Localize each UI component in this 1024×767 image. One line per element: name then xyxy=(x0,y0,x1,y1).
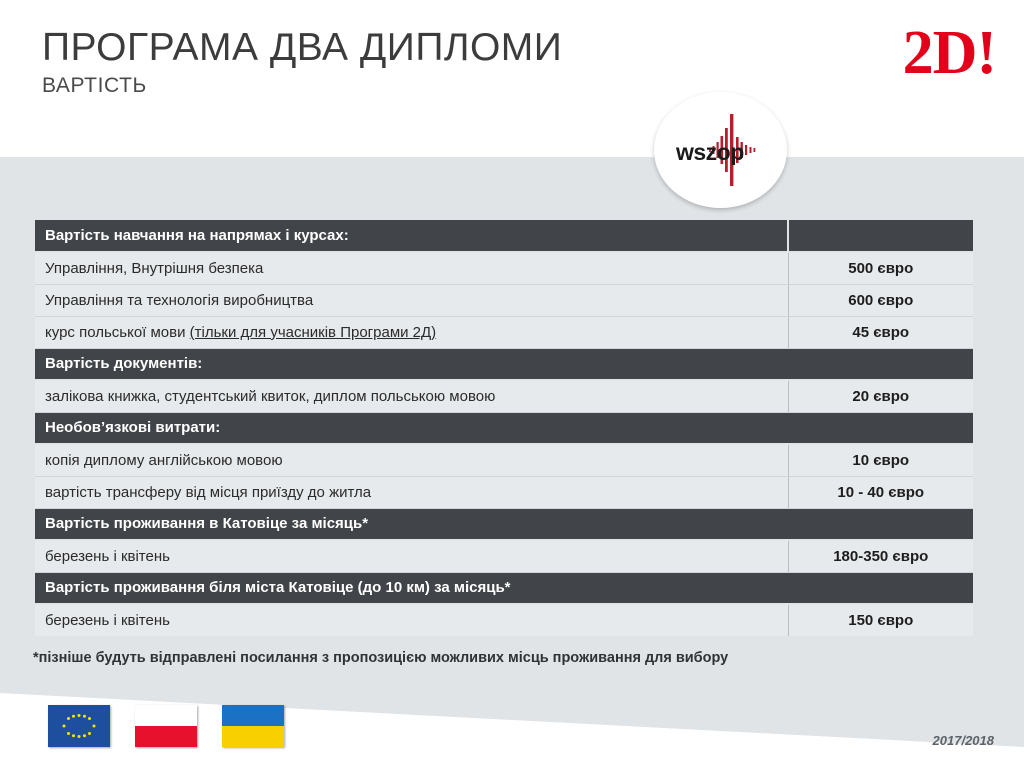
table-section-header-row: Вартість документів: xyxy=(35,348,973,380)
slide-root: ПРОГРАМА ДВА ДИПЛОМИ ВАРТІСТЬ 2D! xyxy=(0,0,1024,767)
table-row-label: Управління, Внутрішня безпека xyxy=(35,252,788,284)
table-row-label: березень і квітень xyxy=(35,604,788,636)
title-block: ПРОГРАМА ДВА ДИПЛОМИ ВАРТІСТЬ xyxy=(42,26,562,98)
cost-table-body: Вартість навчання на напрямах і курсах:У… xyxy=(35,220,973,636)
table-row: вартість трансферу від місця приїзду до … xyxy=(35,476,973,508)
table-row-value: 10 євро xyxy=(788,444,973,476)
header-band: ПРОГРАМА ДВА ДИПЛОМИ ВАРТІСТЬ 2D! xyxy=(0,0,1024,157)
table-row-value: 600 євро xyxy=(788,284,973,316)
table-section-header-row: Вартість проживання біля міста Катовіце … xyxy=(35,572,973,604)
table-row-label: залікова книжка, студентський квиток, ди… xyxy=(35,380,788,412)
section-header-label: Необов’язкові витрати: xyxy=(35,412,973,444)
section-header-value-cell xyxy=(788,220,973,252)
section-header-label: Вартість навчання на напрямах і курсах: xyxy=(35,220,788,252)
cost-table: Вартість навчання на напрямах і курсах:У… xyxy=(35,220,973,636)
table-row-label: курс польської мови (тільки для учасникі… xyxy=(35,316,788,348)
table-row-value: 10 - 40 євро xyxy=(788,476,973,508)
svg-text:wszop: wszop xyxy=(675,139,744,165)
flag-row xyxy=(48,705,284,747)
table-row-value: 45 євро xyxy=(788,316,973,348)
table-row: залікова книжка, студентський квиток, ди… xyxy=(35,380,973,412)
table-row-value: 180-350 євро xyxy=(788,540,973,572)
table-row-label: копія диплому англійською мовою xyxy=(35,444,788,476)
table-row-label: Управління та технологія виробництва xyxy=(35,284,788,316)
table-row-value: 500 євро xyxy=(788,252,973,284)
table-section-header-row: Вартість проживання в Катовіце за місяць… xyxy=(35,508,973,540)
underlined-note: (тільки для учасників Програми 2Д) xyxy=(190,324,437,341)
table-row-value: 150 євро xyxy=(788,604,973,636)
table-row: березень і квітень180-350 євро xyxy=(35,540,973,572)
page-title: ПРОГРАМА ДВА ДИПЛОМИ xyxy=(42,26,562,70)
poland-flag-icon xyxy=(135,705,197,747)
table-row: курс польської мови (тільки для учасникі… xyxy=(35,316,973,348)
section-header-label: Вартість документів: xyxy=(35,348,973,380)
table-row-label: березень і квітень xyxy=(35,540,788,572)
table-section-header-row: Необов’язкові витрати: xyxy=(35,412,973,444)
european-union-flag-icon xyxy=(48,705,110,747)
section-header-label: Вартість проживання в Катовіце за місяць… xyxy=(35,508,973,540)
wszop-logo-badge: wszop xyxy=(654,92,787,208)
ukraine-flag-icon xyxy=(222,705,284,747)
wszop-logo-icon: wszop xyxy=(654,92,787,208)
table-section-header-row: Вартість навчання на напрямах і курсах: xyxy=(35,220,973,252)
table-row-label: вартість трансферу від місця приїзду до … xyxy=(35,476,788,508)
table-row-value: 20 євро xyxy=(788,380,973,412)
table-row: Управління, Внутрішня безпека500 євро xyxy=(35,252,973,284)
section-header-label: Вартість проживання біля міста Катовіце … xyxy=(35,572,973,604)
academic-year-label: 2017/2018 xyxy=(933,733,994,748)
footnote-text: *пізніше будуть відправлені посилання з … xyxy=(33,650,728,666)
table-row: березень і квітень150 євро xyxy=(35,604,973,636)
table-row: Управління та технологія виробництва600 … xyxy=(35,284,973,316)
page-subtitle: ВАРТІСТЬ xyxy=(42,74,562,98)
table-row: копія диплому англійською мовою10 євро xyxy=(35,444,973,476)
two-diplomas-logo: 2D! xyxy=(903,22,996,84)
